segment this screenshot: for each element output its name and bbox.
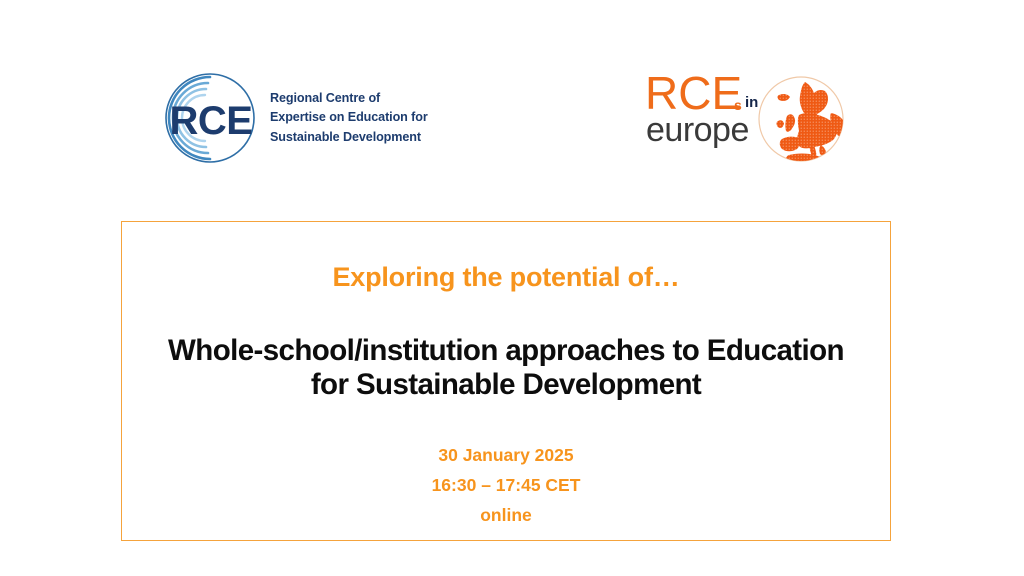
event-time: 16:30 – 17:45 CET [122, 470, 890, 500]
event-info-panel: Exploring the potential of… Whole-school… [121, 221, 891, 541]
europe-globe-icon [755, 73, 847, 165]
rcee-rce-text: RCE [645, 70, 742, 116]
event-details: 30 January 2025 16:30 – 17:45 CET online [122, 440, 890, 530]
panel-eyebrow: Exploring the potential of… [122, 262, 890, 293]
rce-regional-centre-logo: RCE Regional Centre of Expertise on Educ… [164, 72, 428, 164]
svg-text:RCE: RCE [170, 99, 253, 143]
page-title-line-1: Whole-school/institution approaches to E… [168, 334, 844, 367]
page-title-line-2: for Sustainable Development [126, 368, 886, 402]
page-title: Whole-school/institution approaches to E… [126, 334, 886, 402]
rce-roundel-icon: RCE [164, 72, 256, 164]
rcee-superscript-s: s [734, 98, 742, 112]
header-logo-row: RCE Regional Centre of Expertise on Educ… [0, 0, 1024, 200]
event-location: online [122, 500, 890, 530]
rce-tagline-line-3: Sustainable Development [270, 128, 428, 147]
rcee-europe-text: europe [646, 113, 749, 147]
rce-tagline-line-1: Regional Centre of [270, 89, 428, 108]
rce-tagline-line-2: Expertise on Education for [270, 108, 428, 127]
event-date: 30 January 2025 [122, 440, 890, 470]
rce-tagline: Regional Centre of Expertise on Educatio… [270, 89, 428, 146]
rces-in-europe-logo: RCE s in europe [645, 73, 855, 165]
